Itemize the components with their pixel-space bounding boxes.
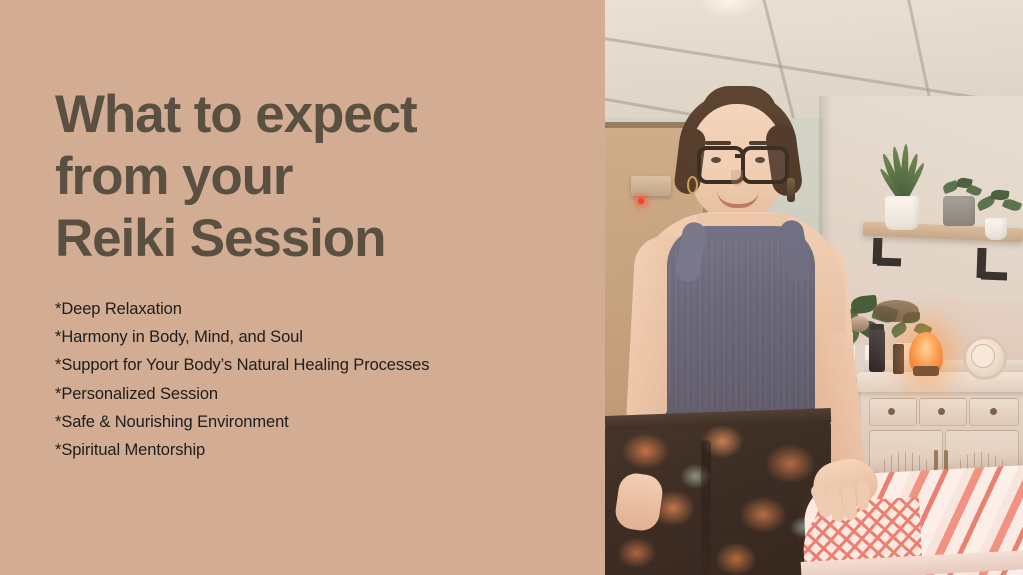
bottle bbox=[893, 344, 904, 374]
plant-leaf bbox=[889, 321, 908, 339]
led-indicator-icon bbox=[638, 198, 644, 204]
list-item: *Deep Relaxation bbox=[55, 295, 595, 323]
wall-device bbox=[631, 176, 671, 196]
pants-fold bbox=[701, 440, 711, 575]
eyebrow bbox=[705, 141, 731, 145]
list-item: *Support for Your Body’s Natural Healing… bbox=[55, 351, 595, 379]
glasses-lens bbox=[741, 146, 789, 184]
glasses-bridge bbox=[735, 154, 745, 158]
page-title: What to expect from your Reiki Session bbox=[55, 84, 595, 270]
hoop-earring bbox=[687, 176, 698, 194]
shelf-bracket bbox=[981, 272, 1007, 281]
eye bbox=[711, 157, 721, 163]
snake-plant bbox=[885, 150, 921, 202]
shelf-plant-right bbox=[977, 188, 1021, 220]
earring bbox=[787, 178, 795, 202]
plant-pot bbox=[885, 196, 919, 230]
plant-pot-grey bbox=[943, 196, 975, 226]
eye bbox=[755, 157, 765, 163]
list-item: *Harmony in Body, Mind, and Soul bbox=[55, 323, 595, 351]
wall-decor bbox=[873, 300, 919, 322]
benefits-list: *Deep Relaxation *Harmony in Body, Mind,… bbox=[55, 295, 595, 464]
clock-face bbox=[971, 344, 995, 368]
nose bbox=[731, 170, 743, 186]
dark-bottle bbox=[869, 330, 885, 372]
finger bbox=[857, 482, 870, 510]
drawer-knob bbox=[938, 408, 945, 415]
list-item: *Safe & Nourishing Environment bbox=[55, 408, 595, 436]
slide-canvas: What to expect from your Reiki Session *… bbox=[0, 0, 1023, 575]
text-panel: What to expect from your Reiki Session *… bbox=[0, 0, 605, 575]
list-item: *Spiritual Mentorship bbox=[55, 436, 595, 464]
salt-lamp-base bbox=[913, 366, 939, 376]
drawer-knob bbox=[990, 408, 997, 415]
bottle bbox=[855, 344, 865, 372]
shelf-bracket bbox=[877, 258, 901, 267]
list-item: *Personalized Session bbox=[55, 380, 595, 408]
drawer-knob bbox=[888, 408, 895, 415]
practitioner-photo bbox=[605, 0, 1023, 575]
plant-pot-small bbox=[985, 218, 1007, 240]
plant-leaf bbox=[1002, 197, 1022, 213]
eyebrow bbox=[749, 141, 775, 145]
